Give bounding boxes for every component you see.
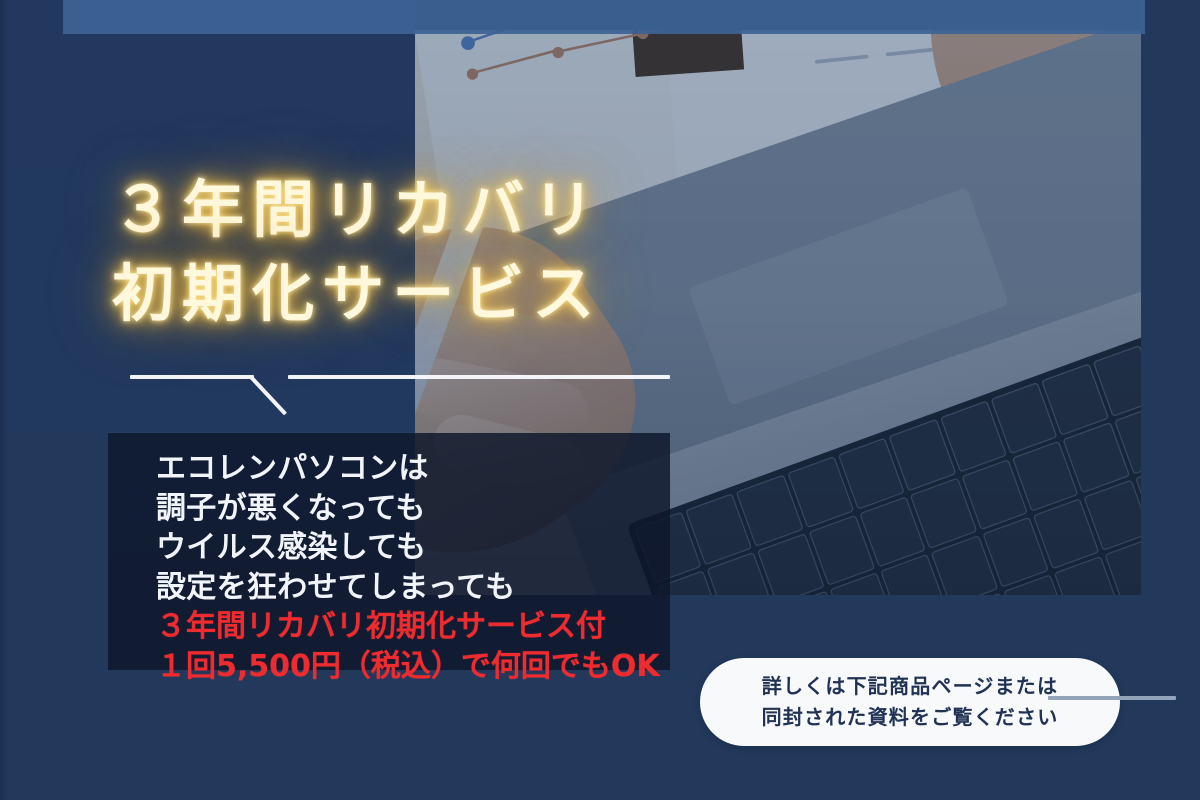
right-frame (1141, 0, 1200, 800)
body-line: 調子が悪くなっても (156, 489, 670, 529)
body-line: エコレンパソコンは (156, 449, 670, 489)
left-frame-edge (0, 0, 10, 800)
body-line: ウイルス感染しても (156, 528, 670, 568)
callout-line-1: 詳しくは下記商品ページまたは (762, 671, 1058, 702)
body-text-box: エコレンパソコンは 調子が悪くなっても ウイルス感染しても 設定を狂わせてしまっ… (108, 433, 670, 670)
decor-rule-left (130, 375, 254, 379)
callout-tail-line (1048, 696, 1176, 700)
headline: ３年間リカバリ 初期化サービス (112, 168, 872, 337)
body-line-price: １回5,500円（税込）で何回でもOK (156, 647, 670, 687)
body-line-highlight: ３年間リカバリ初期化サービス付 (156, 607, 670, 647)
decor-rule-right (288, 375, 670, 379)
headline-line-2: 初期化サービス (112, 252, 872, 336)
promo-banner: ３年間リカバリ 初期化サービス エコレンパソコンは 調子が悪くなっても ウイルス… (0, 0, 1200, 800)
headline-line-1: ３年間リカバリ (112, 168, 872, 252)
body-line: 設定を狂わせてしまっても (156, 568, 670, 608)
top-accent-band (63, 0, 1145, 34)
callout-pill[interactable]: 詳しくは下記商品ページまたは 同封された資料をご覧ください (700, 658, 1120, 746)
callout-line-2: 同封された資料をご覧ください (762, 702, 1059, 733)
